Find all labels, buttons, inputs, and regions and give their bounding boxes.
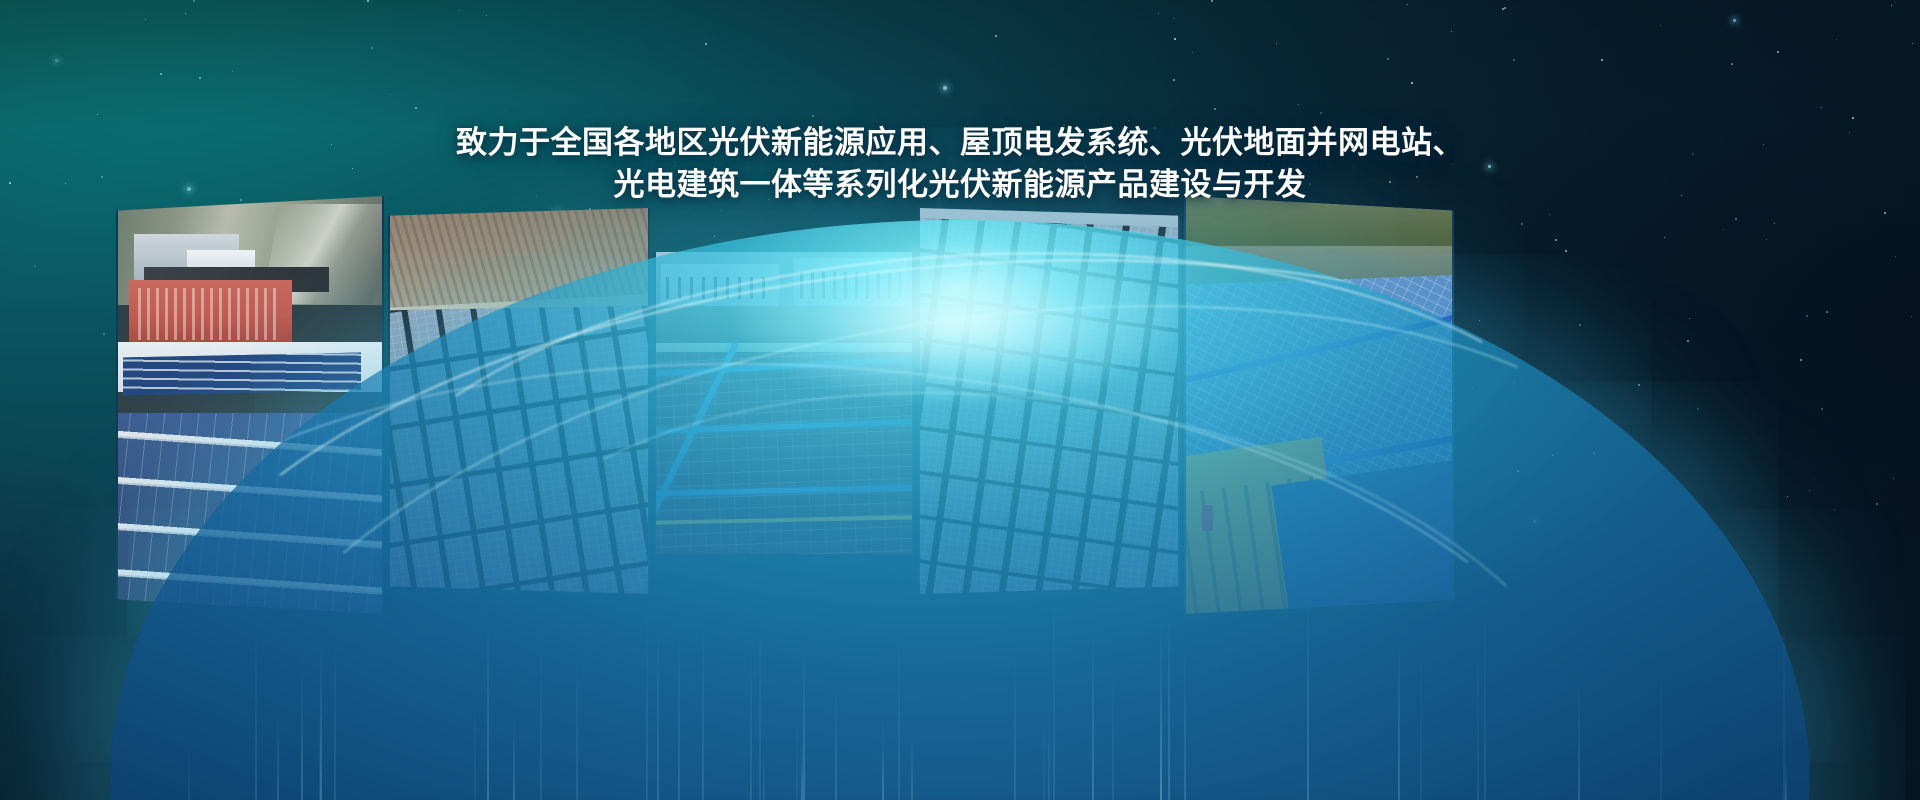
panel-2-image: [390, 208, 648, 594]
solar-banner: 致力于全国各地区光伏新能源应用、屋顶电发系统、光伏地面并网电站、 光电建筑一体等…: [0, 0, 1920, 800]
photo-panel-1[interactable]: [116, 196, 384, 614]
panel-1-pv-band: [123, 352, 361, 395]
photo-panel-3[interactable]: [654, 252, 914, 554]
panel-5-image: [1186, 196, 1452, 614]
panel-1-image: [118, 196, 382, 614]
panel-2-pv-array: [388, 306, 650, 594]
panel-5-red-marker: [1202, 505, 1213, 531]
panel-3-image: [656, 252, 912, 554]
panel-4-pv-array: [918, 218, 1180, 594]
panel-3-warehouse-left: [661, 264, 779, 306]
photo-panel-5[interactable]: [1184, 196, 1454, 614]
headline-line-1: 致力于全国各地区光伏新能源应用、屋顶电发系统、光伏地面并网电站、: [0, 122, 1920, 164]
headline-line-2: 光电建筑一体等系列化光伏新能源产品建设与开发: [0, 164, 1920, 206]
panel-5-blue-building: [1271, 460, 1454, 614]
photo-panel-2[interactable]: [388, 208, 650, 594]
photo-panel-4[interactable]: [918, 208, 1180, 594]
panel-1-red-building: [129, 280, 293, 347]
panel-4-image: [920, 208, 1178, 594]
photo-panel-strip: [0, 0, 1920, 800]
panel-3-warehouse-right: [794, 258, 907, 306]
headline-block: 致力于全国各地区光伏新能源应用、屋顶电发系统、光伏地面并网电站、 光电建筑一体等…: [0, 122, 1920, 206]
panel-1-pv-array: [116, 413, 384, 614]
